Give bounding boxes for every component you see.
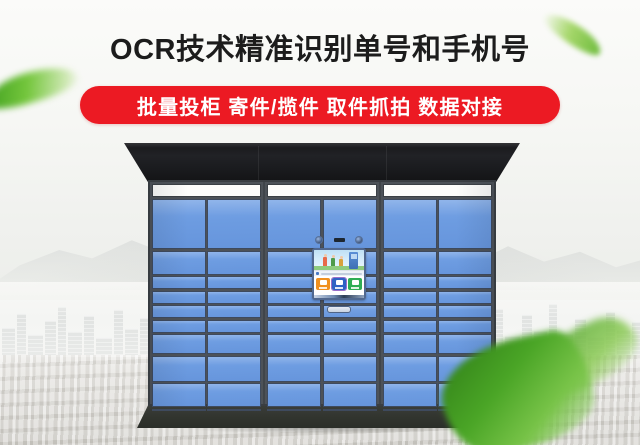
locker-door[interactable] — [267, 383, 321, 407]
table-row — [152, 276, 261, 289]
locker-door[interactable] — [323, 383, 377, 407]
locker-door[interactable] — [438, 320, 492, 333]
locker-door[interactable] — [152, 291, 206, 304]
locker-door[interactable] — [152, 334, 206, 354]
screen-status-bar — [314, 295, 364, 298]
locker-door[interactable] — [383, 291, 437, 304]
locker-door[interactable] — [383, 356, 437, 382]
send-button[interactable] — [348, 278, 362, 290]
pickup-button[interactable] — [332, 278, 346, 290]
locker-door[interactable] — [383, 199, 437, 249]
card-slot[interactable] — [327, 306, 351, 313]
table-row — [152, 409, 261, 411]
left-section-rows — [152, 199, 261, 411]
table-row — [152, 320, 261, 333]
locker-door[interactable] — [152, 383, 206, 407]
table-row — [152, 251, 261, 275]
locker-door[interactable] — [152, 251, 206, 275]
locker-door[interactable] — [207, 409, 261, 411]
section-header-strip — [267, 184, 376, 197]
table-row — [267, 334, 376, 354]
table-row — [383, 291, 492, 304]
table-row — [383, 199, 492, 249]
locker-door[interactable] — [267, 409, 321, 411]
table-row — [267, 320, 376, 333]
left-section — [150, 182, 265, 404]
locker-door[interactable] — [267, 334, 321, 354]
sensor-row — [315, 234, 363, 245]
locker-door[interactable] — [383, 334, 437, 354]
canopy-seam — [258, 146, 259, 182]
box-icon — [320, 280, 327, 285]
cabinet-canopy — [124, 143, 520, 185]
kiosk-panel[interactable] — [323, 320, 377, 333]
locker-door[interactable] — [152, 305, 206, 318]
locker-door[interactable] — [267, 320, 321, 333]
kiosk-panel[interactable] — [323, 334, 377, 354]
locker-door[interactable] — [323, 409, 377, 411]
locker-door[interactable] — [207, 356, 261, 382]
screen-banner-illustration — [314, 250, 364, 270]
kiosk-screen[interactable] — [312, 248, 366, 300]
section-header-strip — [152, 184, 261, 197]
table-row — [267, 356, 376, 382]
locker-door[interactable] — [152, 276, 206, 289]
table-row — [152, 334, 261, 354]
canopy-highlight — [124, 143, 520, 148]
locker-door[interactable] — [383, 305, 437, 318]
locker-door[interactable] — [383, 383, 437, 407]
table-row — [383, 305, 492, 318]
locker-door[interactable] — [438, 199, 492, 249]
locker-door[interactable] — [207, 320, 261, 333]
locker-door[interactable] — [152, 356, 206, 382]
box-icon — [336, 280, 343, 285]
locker-door[interactable] — [383, 276, 437, 289]
section-header-strip — [383, 184, 492, 197]
table-row — [152, 199, 261, 249]
locker-door[interactable] — [207, 305, 261, 318]
deposit-button[interactable] — [316, 278, 330, 290]
feature-banner-text: 批量投柜 寄件/揽件 取件抓拍 数据对接 — [137, 91, 503, 120]
locker-door[interactable] — [383, 251, 437, 275]
table-row — [383, 276, 492, 289]
locker-door[interactable] — [152, 320, 206, 333]
locker-door[interactable] — [438, 251, 492, 275]
locker-door[interactable] — [438, 305, 492, 318]
canopy-seam — [386, 146, 387, 182]
locker-door[interactable] — [438, 291, 492, 304]
locker-door[interactable] — [323, 356, 377, 382]
promo-scene: OCR技术精准识别单号和手机号 批量投柜 寄件/揽件 取件抓拍 数据对接 — [0, 0, 640, 445]
screen-action-buttons — [314, 276, 364, 292]
kiosk-terminal — [312, 234, 366, 316]
locker-door[interactable] — [207, 276, 261, 289]
locker-door[interactable] — [383, 409, 437, 411]
locker-door[interactable] — [207, 334, 261, 354]
table-row — [152, 305, 261, 318]
locker-door[interactable] — [207, 383, 261, 407]
locker-door[interactable] — [207, 199, 261, 249]
locker-door[interactable] — [207, 291, 261, 304]
table-row — [267, 409, 376, 411]
box-icon — [352, 280, 359, 285]
table-row — [267, 383, 376, 407]
table-row — [152, 383, 261, 407]
locker-door[interactable] — [207, 251, 261, 275]
table-row — [152, 356, 261, 382]
table-row — [383, 251, 492, 275]
infrared-sensor-icon — [334, 238, 345, 242]
table-row — [152, 291, 261, 304]
table-row — [383, 334, 492, 354]
feature-banner: 批量投柜 寄件/揽件 取件抓拍 数据对接 — [80, 86, 560, 124]
locker-door[interactable] — [267, 356, 321, 382]
camera-lens-icon — [315, 236, 323, 244]
locker-door[interactable] — [438, 276, 492, 289]
locker-door[interactable] — [152, 199, 206, 249]
locker-door[interactable] — [383, 320, 437, 333]
table-row — [383, 320, 492, 333]
page-title: OCR技术精准识别单号和手机号 — [0, 26, 640, 68]
locker-door[interactable] — [152, 409, 206, 411]
camera-lens-icon — [355, 236, 363, 244]
